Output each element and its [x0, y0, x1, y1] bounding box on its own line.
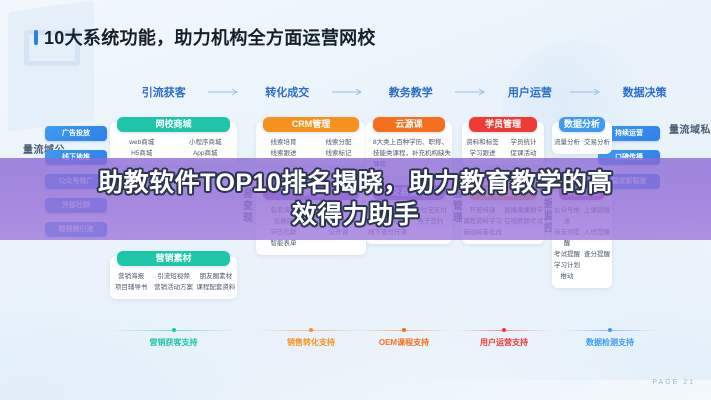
flow-step-4: 用户运营 [492, 84, 567, 100]
card-item[interactable]: 流量分析 [552, 137, 582, 148]
private-traffic-label: 高质量私域流量 [666, 124, 711, 136]
footer-marketing-support: 营销获客支持 [110, 330, 237, 348]
footer-divider [456, 330, 552, 331]
overlay-headline-line1: 助教软件TOP10排名揭晓，助力教育教学的高 [98, 167, 613, 200]
footer-label-3: OEM课程支持 [356, 337, 452, 348]
overlay-headline: 助教软件TOP10排名揭晓，助力教育教学的高 效得力助手 [0, 162, 711, 236]
card-item[interactable]: 项目辅导书 [110, 282, 152, 293]
public-traffic-pill-1[interactable]: 广告投放 [45, 126, 107, 141]
overlay-headline-line2: 效得力助手 [292, 199, 420, 232]
card-item[interactable]: 小程序商城 [174, 137, 238, 148]
card-item[interactable]: 营销海报 [110, 271, 152, 282]
card-items-2: 线索培育线索分配线索跟进线索标记 [256, 137, 366, 159]
card-header-5: 数据分析 [559, 117, 605, 132]
card-item[interactable]: 课程配套资料 [195, 282, 237, 293]
card-items-4: 资料和标签学员统计学习跟进促课活动 [462, 137, 544, 159]
card-item[interactable]: 线索分配 [311, 137, 366, 148]
slide-title-row: 10大系统功能，助力机构全方面运营网校 [34, 24, 376, 50]
title-bullet-icon [34, 30, 38, 45]
card-item[interactable]: 营销活动方案 [152, 282, 194, 293]
arrow-right-icon [329, 88, 369, 96]
footer-divider [110, 330, 237, 331]
footer-user-ops-support: 用户运营支持 [456, 330, 552, 348]
flow-step-2: 转化成交 [245, 84, 328, 100]
card-header-4: 学员管理 [469, 117, 537, 132]
arrow-right-icon [567, 88, 607, 96]
arrow-right-icon [205, 88, 245, 96]
card-item[interactable]: 交易分析 [582, 137, 612, 148]
footer-divider [562, 330, 658, 331]
card-item[interactable]: 引流短视频 [152, 271, 194, 282]
card-item[interactable]: 学习计划推动 [552, 260, 582, 282]
footer-divider [356, 330, 452, 331]
card-item[interactable]: 查分提醒 [582, 249, 612, 260]
footer-label-1: 营销获客支持 [110, 337, 237, 348]
card-header-3: 云源课 [373, 117, 445, 132]
slide-screenshot: 10大系统功能，助力机构全方面运营网校 引流获客转化成交教务教学用户运营数据决策… [0, 0, 711, 400]
card-header-6: 营销素材 [117, 251, 230, 266]
card-header-1: 网校商城 [117, 117, 230, 132]
card-item[interactable]: web商城 [110, 137, 174, 148]
footer-sales-support: 销售转化支持 [256, 330, 366, 348]
flow-step-1: 引流获客 [122, 84, 205, 100]
page-number: PAGE 21 [652, 379, 695, 386]
footer-divider [256, 330, 366, 331]
card-item[interactable]: 线索培育 [256, 137, 311, 148]
card-items-6: 营销海报引流短视频朋友圈素材项目辅导书营销活动方案课程配套资料 [110, 271, 237, 293]
card-marketing-material[interactable]: 营销素材营销海报引流短视频朋友圈素材项目辅导书营销活动方案课程配套资料 [110, 256, 237, 299]
card-items-1: web商城小程序商城H5商城App商城 [110, 137, 237, 159]
card-header-2: CRM管理 [263, 117, 359, 132]
card-item[interactable]: 资料和标签 [462, 137, 503, 148]
footer-label-4: 用户运营支持 [456, 337, 552, 348]
footer-data-support: 数据检测支持 [562, 330, 658, 348]
arrow-right-icon [452, 88, 492, 96]
card-items-5: 流量分析交易分析 [552, 137, 612, 148]
page-title: 10大系统功能，助力机构全方面运营网校 [44, 24, 376, 50]
flow-step-5: 数据决策 [607, 84, 682, 100]
process-flow: 引流获客转化成交教务教学用户运营数据决策 [122, 84, 682, 100]
footer-oem-support: OEM课程支持 [356, 330, 452, 348]
card-item[interactable]: 朋友圈素材 [195, 271, 237, 282]
card-data-analysis[interactable]: 数据分析流量分析交易分析 [552, 122, 612, 154]
flow-step-3: 教务教学 [369, 84, 452, 100]
footer-label-5: 数据检测支持 [562, 337, 658, 348]
card-item[interactable]: 学员统计 [503, 137, 544, 148]
footer-label-2: 销售转化支持 [256, 337, 366, 348]
card-item[interactable]: 考试提醒 [552, 249, 582, 260]
background-decoration-block [8, 0, 94, 132]
